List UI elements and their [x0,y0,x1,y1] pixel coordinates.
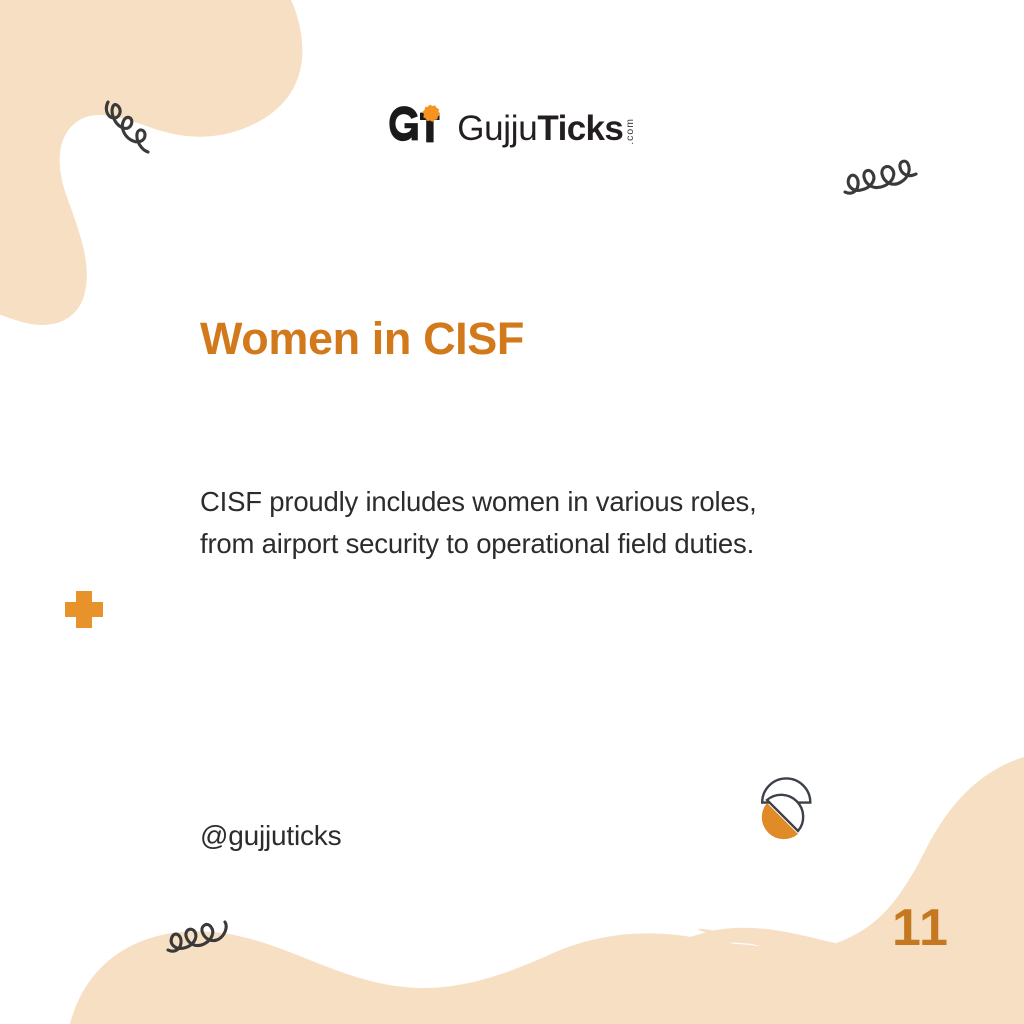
gt-monogram-icon [388,104,446,152]
squiggle-bottom-left [168,922,226,951]
half-disc-outline-icon [757,769,815,827]
bottom-right-blob-sweep [689,758,1024,1024]
slide-canvas: Gujju Ticks .com Women in CISF CISF prou… [0,0,1024,1024]
bottom-right-blob-lobe [685,932,1024,1024]
page-number: 11 [892,898,949,958]
plus-icon [65,591,103,628]
body-paragraph: CISF proudly includes women in various r… [200,481,810,565]
half-disc-filled-icon [762,803,798,839]
brand-wordmark: Gujju Ticks .com [457,111,636,146]
bottom-right-blob-final [70,757,1024,1024]
brand-name-light: Gujju [457,111,537,146]
bottom-right-blob [672,770,1024,1024]
squiggle-top-right [845,161,916,193]
brand-tld: .com [625,118,636,145]
brand-name-bold: Ticks [537,111,623,146]
half-disc-outline-arc-icon [767,795,803,831]
social-handle: @gujjuticks [200,820,341,852]
bottom-right-blob-base [684,760,1024,1024]
brand-logo: Gujju Ticks .com [0,104,1024,152]
page-title: Women in CISF [200,313,524,365]
top-left-blob [0,0,302,325]
